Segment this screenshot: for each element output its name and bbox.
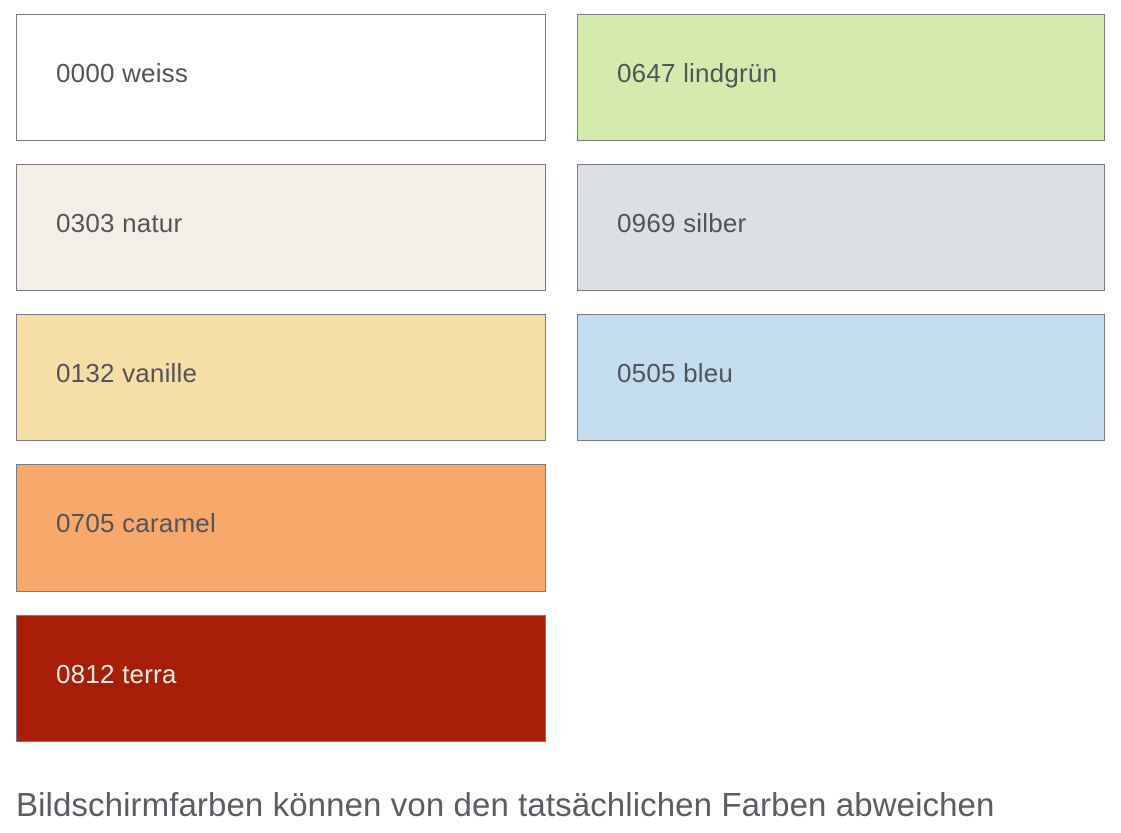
swatch-label: 0812 terra: [17, 661, 177, 687]
color-swatch-0303-natur[interactable]: 0303 natur: [16, 164, 546, 291]
swatch-label: 0303 natur: [17, 210, 182, 236]
swatch-label: 0969 silber: [578, 210, 746, 236]
color-accuracy-disclaimer: Bildschirmfarben können von den tatsächl…: [16, 786, 1111, 824]
color-swatch-0132-vanille[interactable]: 0132 vanille: [16, 314, 546, 441]
color-swatch-0000-weiss[interactable]: 0000 weiss: [16, 14, 546, 141]
swatch-label: 0000 weiss: [17, 60, 188, 86]
color-swatch-0812-terra[interactable]: 0812 terra: [16, 615, 546, 742]
swatch-label: 0647 lindgrün: [578, 60, 777, 86]
color-swatch-board: 0000 weiss 0303 natur 0132 vanille 0705 …: [0, 0, 1121, 833]
swatch-label: 0705 caramel: [17, 510, 216, 536]
swatch-label: 0132 vanille: [17, 360, 197, 386]
color-swatch-0647-lindgruen[interactable]: 0647 lindgrün: [577, 14, 1105, 141]
color-swatch-0505-bleu[interactable]: 0505 bleu: [577, 314, 1105, 441]
swatch-label: 0505 bleu: [578, 360, 733, 386]
color-swatch-0969-silber[interactable]: 0969 silber: [577, 164, 1105, 291]
color-swatch-0705-caramel[interactable]: 0705 caramel: [16, 464, 546, 592]
